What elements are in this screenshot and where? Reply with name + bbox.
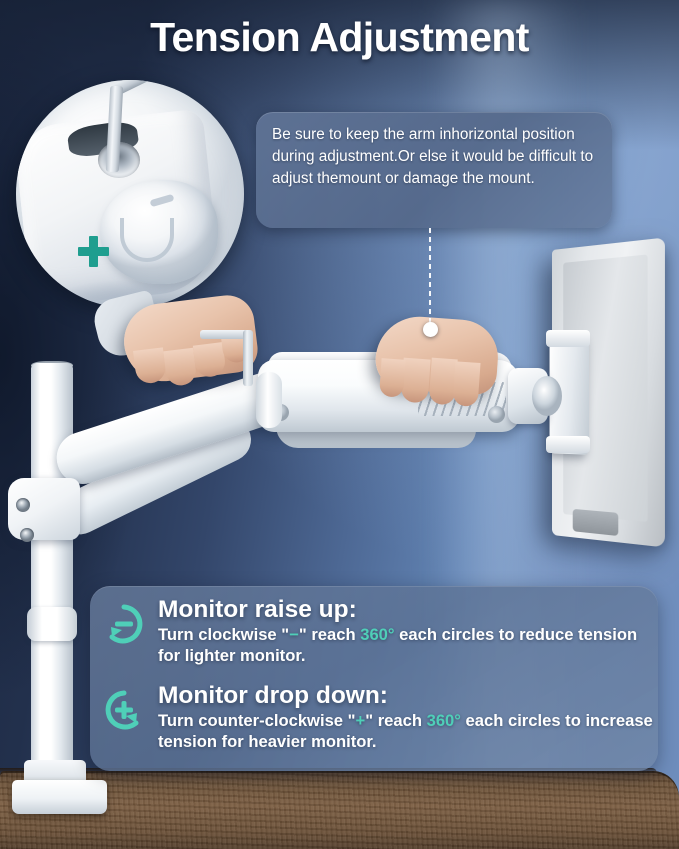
vesa-pivot-knob [532, 376, 562, 416]
adjustment-screw-closeup [16, 80, 244, 308]
instruction-body-pre: Turn clockwise " [158, 625, 289, 644]
instruction-symbol: − [289, 625, 299, 644]
arm-elbow-pin [256, 372, 282, 428]
warning-callout: Be sure to keep the arm inhorizontal pos… [256, 112, 612, 228]
instruction-body: Turn clockwise "−" reach 360° each circl… [158, 625, 654, 665]
mount-pole [31, 363, 73, 793]
hex-key-held-shaft [243, 330, 253, 386]
instruction-degrees: 360° [427, 711, 461, 730]
instruction-text-drop-down: Monitor drop down: Turn counter-clockwis… [158, 682, 654, 752]
instruction-heading: Monitor drop down: [158, 682, 654, 709]
joint-screw-upper [16, 498, 30, 512]
instruction-body-mid: " reach [365, 711, 426, 730]
instruction-text-raise-up: Monitor raise up: Turn clockwise "−" rea… [158, 596, 654, 666]
joint-screw-lower [20, 528, 34, 542]
page-title: Tension Adjustment [0, 14, 679, 61]
monitor-cable-notch [573, 509, 619, 536]
callout-leader-dot [423, 322, 438, 337]
warning-callout-text: Be sure to keep the arm inhorizontal pos… [272, 124, 596, 190]
instruction-body-mid: " reach [299, 625, 360, 644]
desk-clamp-base [12, 780, 107, 814]
pole-collar [27, 607, 77, 641]
instruction-graphic: Tension Adjustment [0, 0, 679, 849]
instruction-panel: Monitor raise up: Turn clockwise "−" rea… [90, 586, 658, 771]
circular-arrow-plus-icon [102, 688, 146, 732]
instruction-degrees: 360° [360, 625, 394, 644]
instruction-body-pre: Turn counter-clockwise " [158, 711, 356, 730]
circular-arrow-minus-icon [102, 602, 146, 646]
instruction-body: Turn counter-clockwise "+" reach 360° ea… [158, 711, 654, 751]
callout-leader-line [429, 228, 431, 328]
vesa-bracket-bottom [546, 436, 590, 453]
instruction-heading: Monitor raise up: [158, 596, 654, 623]
vesa-bracket-top [546, 330, 590, 347]
arm-pivot-cap-right [488, 406, 505, 423]
instruction-symbol: + [356, 711, 366, 730]
